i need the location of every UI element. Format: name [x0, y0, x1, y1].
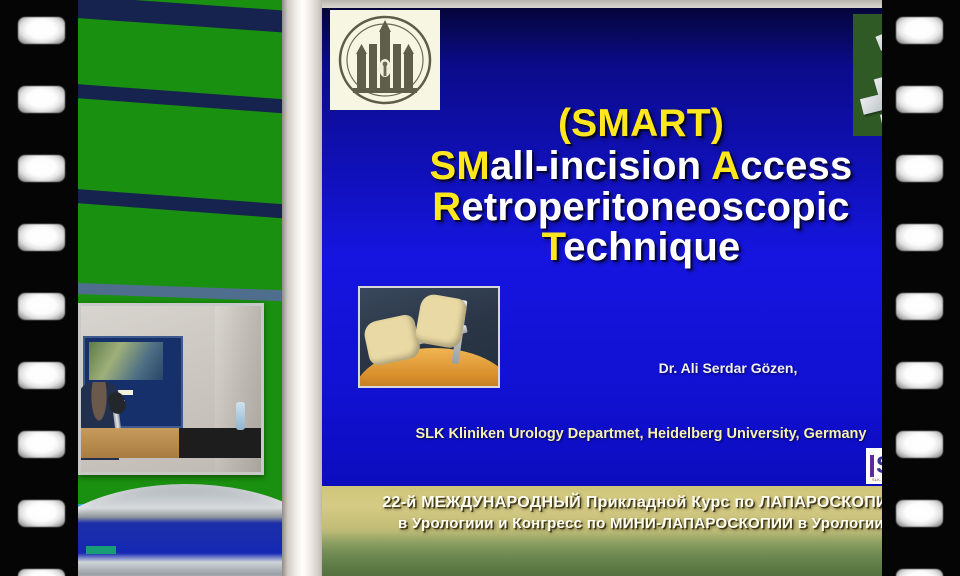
film-perforation: [18, 362, 65, 389]
film-perforation: [896, 431, 943, 458]
film-perforation: [18, 431, 65, 458]
filmstrip-left: [0, 0, 78, 576]
panel-divider: [282, 0, 322, 576]
title-line-2: SMall-incision Access: [322, 146, 960, 187]
presentation-slide: (SMART) SMall-incision Access Retroperit…: [322, 0, 960, 576]
logo-bar: [870, 455, 874, 477]
title-acronym: (SMART): [322, 104, 960, 144]
projected-image: [89, 342, 163, 380]
banner-line-2: в Урологиии и Конгресс по МИНИ-ЛАПАРОСКО…: [322, 512, 960, 532]
event-banner: 22-й МЕЖДУНАРОДНЫЙ Прикладной Курс по ЛА…: [322, 486, 960, 576]
film-perforation: [896, 293, 943, 320]
desk-surface: [179, 428, 264, 458]
filmstrip-right: [882, 0, 960, 576]
title-highlight-t: T: [542, 225, 564, 269]
film-perforation: [896, 17, 943, 44]
studio-desk-logo: [86, 546, 116, 554]
slide-top-edge: [322, 0, 960, 8]
title-highlight-r: R: [432, 185, 461, 229]
slide-title: (SMART) SMall-incision Access Retroperit…: [322, 104, 960, 268]
film-perforation: [18, 569, 65, 576]
presenter-inset-screen: [78, 303, 264, 475]
title-highlight-sm: SM: [430, 144, 490, 188]
title-highlight-a: A: [711, 144, 740, 188]
film-perforation: [18, 17, 65, 44]
title-text-retro: etroperitoneoscopic: [461, 185, 849, 229]
title-text-access: ccess: [740, 144, 852, 188]
film-perforation: [896, 155, 943, 182]
banner-gradient-overlay: [322, 532, 960, 576]
video-frame: (SMART) SMall-incision Access Retroperit…: [0, 0, 960, 576]
film-perforation: [18, 86, 65, 113]
water-bottle: [236, 402, 245, 430]
film-perforation: [896, 500, 943, 527]
film-perforation: [896, 362, 943, 389]
film-perforation: [896, 86, 943, 113]
title-line-4: Technique: [322, 227, 960, 268]
title-text-technique: echnique: [563, 225, 740, 269]
film-perforation: [18, 224, 65, 251]
studio-desk: [78, 484, 282, 576]
surgery-photo: [358, 286, 500, 388]
title-text-small: all-incision: [490, 144, 711, 188]
film-perforation: [18, 293, 65, 320]
slide-canvas: (SMART) SMall-incision Access Retroperit…: [322, 8, 960, 486]
film-perforation: [896, 569, 943, 576]
gloved-hand: [414, 292, 468, 349]
heidelberg-university-seal-icon: [330, 10, 440, 110]
presenter-camera-view: [78, 0, 282, 576]
title-line-3: Retroperitoneoscopic: [322, 187, 960, 228]
affiliation-line: SLK Kliniken Urology Departmet, Heidelbe…: [322, 426, 960, 442]
film-perforation: [18, 155, 65, 182]
banner-line-1: 22-й МЕЖДУНАРОДНЫЙ Прикладной Курс по ЛА…: [322, 486, 960, 512]
film-perforation: [896, 224, 943, 251]
film-perforation: [18, 500, 65, 527]
